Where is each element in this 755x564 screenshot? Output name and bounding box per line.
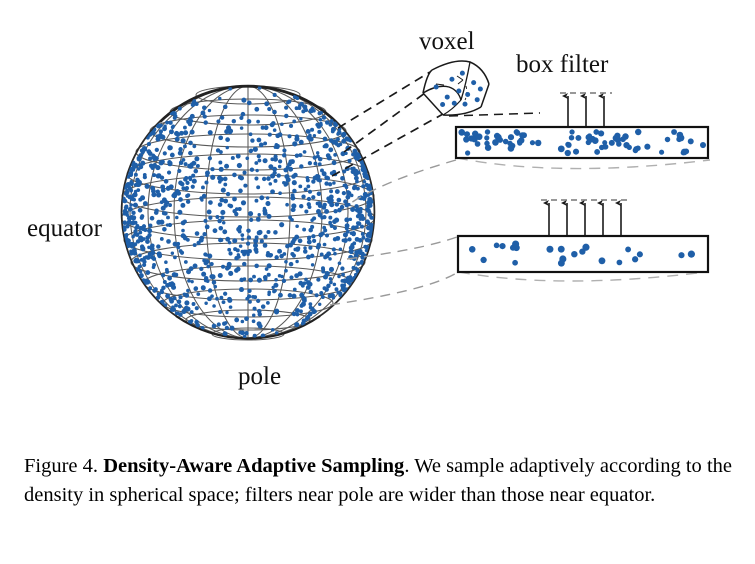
figure-number: Figure 4. [24,455,98,477]
pole-filter-box [458,236,708,272]
equator-filter-arrows [560,93,612,126]
figure-title: Density-Aware Adaptive Sampling [103,455,404,477]
pole-label: pole [238,364,281,389]
equator-label: equator [27,216,102,241]
box-filter-label: box filter [516,52,608,77]
voxel-label: voxel [419,29,475,54]
figure-root: voxel box filter equator pole Figure 4. … [0,0,755,564]
equator-filter-box [456,127,708,158]
figure-caption: Figure 4. Density-Aware Adaptive Samplin… [24,452,732,510]
